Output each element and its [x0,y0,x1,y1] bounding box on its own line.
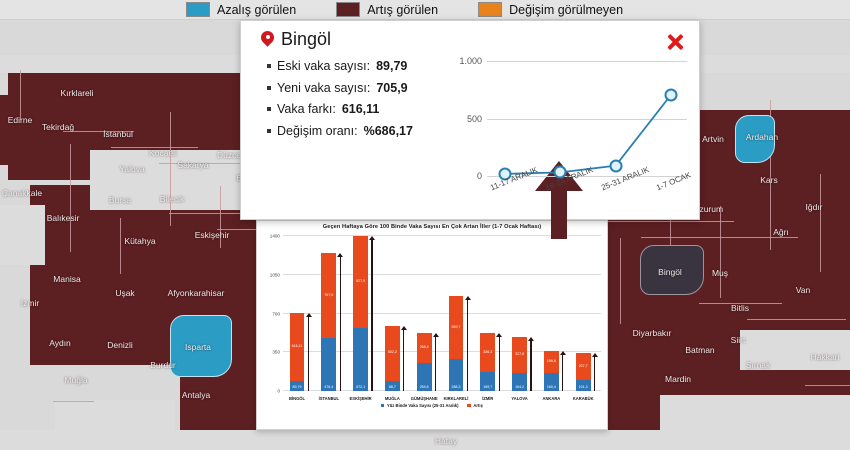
stat-value: 616,11 [342,102,380,116]
close-icon[interactable] [665,31,685,51]
province-border [805,385,850,386]
province-border [220,186,221,248]
legend-swatch-increase [467,404,470,407]
line-chart-series [487,61,687,178]
bar-column[interactable]: 169,7356,3 [480,333,495,391]
bar-value-label-cases: 89,79 [290,385,305,389]
province-border [111,147,198,148]
bar-legend-item-cases: Yüz Binde Vaka Sayısı (25-31 Aralık) [381,403,458,409]
bar-column[interactable]: 254,6268,4 [417,333,432,391]
bar-segment-increase: 268,4 [417,333,432,363]
legend-label-increase: Artış görülen [367,3,438,17]
stat-row-old-cases: Eski vaka sayısı: 89,79 [267,59,467,73]
line-chart-point[interactable] [665,88,678,101]
bar-column[interactable]: 88,7502,2 [385,326,400,391]
province-border [63,131,134,132]
map-province-ardahan[interactable] [735,115,775,163]
bar-value-label-cases: 288,3 [449,385,464,389]
bar-value-label-cases: 101,3 [576,385,591,389]
bar-segment-cases: 288,3 [449,359,464,391]
bar-value-label-cases: 572,1 [353,385,368,389]
bar-segment-cases: 478,4 [321,338,336,391]
bar-chart-xtick: KARABÜK [573,396,594,401]
stat-row-change-rate: Değişim oranı: %686,17 [267,124,467,138]
bar-segment-cases: 160,4 [544,373,559,391]
legend-label-decrease: Azalış görülen [217,3,296,17]
bar-annotation-arrow-icon [433,333,439,391]
legend-swatch-nochange [478,2,502,17]
bar-chart-xtick: ANKARA [543,396,561,401]
bar-value-label-increase: 237,7 [576,364,591,368]
stat-value: 89,79 [376,59,407,73]
bar-chart-xtick: İZMİR [482,396,493,401]
province-border [699,303,782,304]
top-increase-bar-chart-panel: Geçen Haftaya Göre 100 Binde Vaka Sayısı… [256,220,608,430]
bar-segment-increase: 502,2 [385,326,400,382]
bar-value-label-cases: 478,4 [321,385,336,389]
popup-title: Bingöl [281,29,331,50]
bar-annotation-arrow-icon [496,333,502,391]
bar-chart-xtick: ESKİŞEHİR [350,396,372,401]
map-province-isparta[interactable] [170,315,232,377]
legend-item-increase[interactable]: Artış görülen [336,2,438,17]
province-border [20,70,21,120]
bar-value-label-increase: 356,3 [480,350,495,354]
stat-row-difference: Vaka farkı: 616,11 [267,102,467,116]
bar-chart-xtick: BİNGÖL [289,396,305,401]
province-border [593,221,734,222]
bar-chart-ytick: 1050 [270,272,283,277]
map-pin-icon [261,31,274,49]
bar-segment-increase: 327,8 [512,337,527,373]
stat-label: Eski vaka sayısı: [277,59,370,73]
stat-value: %686,17 [364,124,413,138]
bar-value-label-cases: 169,7 [480,385,495,389]
bullet-icon [267,86,271,90]
bar-chart-ytick: 700 [272,311,283,316]
bar-annotation-arrow-icon [465,296,471,391]
bullet-icon [267,107,271,111]
bar-segment-cases: 572,1 [353,328,368,391]
bar-segment-cases: 164,2 [512,373,527,391]
bar-value-label-cases: 164,2 [512,385,527,389]
province-label-muğla: Muğla [64,375,87,385]
province-border [53,401,94,402]
sea-area [0,430,850,450]
bar-legend-label-cases: Yüz Binde Vaka Sayısı (25-31 Aralık) [387,403,459,409]
bar-value-label-cases: 88,7 [385,385,400,389]
bar-chart-xtick: MUĞLA [385,396,400,401]
line-chart-ytick: 500 [467,114,487,124]
popup-header: Bingöl [261,29,331,50]
bar-annotation-arrow-icon [528,337,534,391]
bar-column[interactable]: 288,3569,7 [449,296,464,391]
bar-segment-cases: 89,79 [290,381,305,391]
bar-chart-ytick: 350 [272,350,283,355]
bar-column[interactable]: 164,2327,8 [512,337,527,391]
legend-label-nochange: Değişim görülmeyen [509,3,623,17]
province-border [620,238,621,324]
stat-label: Yeni vaka sayısı: [277,81,370,95]
bar-chart-xtick: KIRKLARELİ [444,396,469,401]
bar-column[interactable]: 478,4767,6 [321,253,336,391]
trend-line-chart: 05001.00011-17 ARALIK18-24 ARALIK25-31 A… [487,61,687,213]
legend-item-nochange[interactable]: Değişim görülmeyen [478,2,623,17]
bar-column[interactable]: 101,3237,7 [576,353,591,391]
bar-value-label-cases: 254,6 [417,385,432,389]
province-detail-popup: Bingöl Eski vaka sayısı: 89,79 Yeni vaka… [240,20,700,220]
bar-chart-plot: 03507001050140089,79616,11478,4767,6572,… [283,236,601,391]
map-province-bingöl[interactable] [640,245,704,295]
province-border [70,144,71,252]
bar-value-label-increase: 767,6 [321,293,336,297]
bar-segment-increase: 196,6 [544,351,559,373]
legend-item-decrease[interactable]: Azalış görülen [186,2,296,17]
bar-value-label-increase: 827,9 [353,279,368,283]
bar-annotation-arrow-icon [401,326,407,391]
bar-annotation-arrow-icon [560,351,566,391]
bar-legend-item-increase: Artış [467,403,482,409]
bullet-icon [267,64,271,68]
bar-chart-xtick: YALOVA [511,396,527,401]
bar-column[interactable]: 89,79616,11 [290,313,305,391]
bar-value-label-cases: 160,4 [544,385,559,389]
bar-value-label-increase: 569,7 [449,325,464,329]
bar-chart-xaxis: BİNGÖLİSTANBULESKİŞEHİRMUĞLAGÜMÜŞHANEKIR… [283,393,601,401]
map-legend: Azalış görülen Artış görülen Değişim gör… [0,0,850,20]
bar-segment-increase: 767,6 [321,253,336,338]
bar-column[interactable]: 572,1827,9 [353,236,368,391]
bar-chart-legend: Yüz Binde Vaka Sayısı (25-31 Aralık) Art… [257,403,607,409]
bar-segment-cases: 88,7 [385,381,400,391]
bar-segment-increase: 569,7 [449,296,464,359]
province-border [747,319,846,320]
bar-chart-xtick: İSTANBUL [319,396,339,401]
stat-row-new-cases: Yeni vaka sayısı: 705,9 [267,81,467,95]
bullet-icon [267,129,271,133]
bar-segment-increase: 237,7 [576,353,591,379]
bar-segment-increase: 616,11 [290,313,305,381]
stat-label: Değişim oranı: [277,124,358,138]
sea-area [740,330,850,370]
bar-segment-cases: 254,6 [417,363,432,391]
bar-segment-cases: 169,7 [480,372,495,391]
bar-value-label-increase: 268,4 [417,345,432,349]
sea-area [0,205,45,265]
province-border [720,206,721,298]
line-chart-point[interactable] [609,159,622,172]
legend-swatch-cases [381,404,384,407]
bar-segment-cases: 101,3 [576,380,591,391]
province-border [170,112,171,226]
bar-annotation-arrow-icon [337,253,343,391]
province-border [120,218,121,274]
bar-value-label-increase: 327,8 [512,352,527,356]
bar-annotation-arrow-icon [592,353,598,391]
stat-label: Vaka farkı: [277,102,336,116]
bar-value-label-increase: 196,6 [544,359,559,363]
bar-legend-label-increase: Artış [473,403,483,409]
line-chart-ytick: 1.000 [459,56,487,66]
bar-annotation-arrow-icon [369,236,375,391]
bar-segment-increase: 356,3 [480,333,495,372]
legend-swatch-decrease [186,2,210,17]
sea-area [90,150,240,210]
province-border [820,174,821,272]
stat-value: 705,9 [376,81,407,95]
bar-chart-xtick: GÜMÜŞHANE [411,396,438,401]
legend-swatch-increase [336,2,360,17]
bar-annotation-arrow-icon [306,313,312,391]
popup-stats-list: Eski vaka sayısı: 89,79 Yeni vaka sayısı… [267,59,467,145]
bar-segment-increase: 827,9 [353,236,368,328]
bar-chart-ytick: 1400 [270,234,283,239]
line-chart-ytick: 0 [477,171,487,181]
bar-value-label-increase: 616,11 [290,344,305,348]
bar-value-label-increase: 502,2 [385,350,400,354]
bar-column[interactable]: 160,4196,6 [544,351,559,391]
